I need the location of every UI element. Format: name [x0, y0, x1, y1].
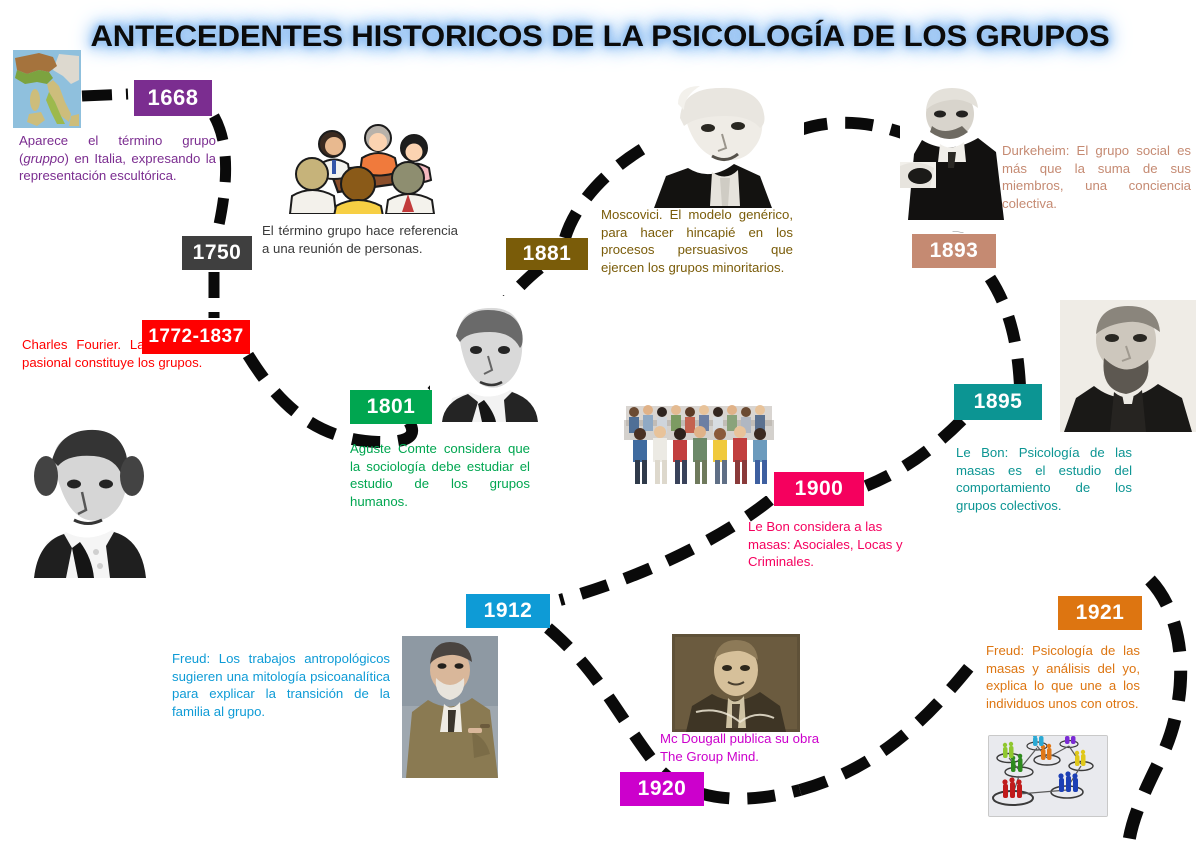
comte-portrait-svg [430, 296, 548, 422]
entry-text-1912: Freud: Los trabajos antropológicos sugie… [172, 650, 390, 720]
entry-text-1668: Aparece el término grupo (gruppo) en Ita… [19, 132, 216, 185]
mcdougall-photo-svg [672, 634, 800, 732]
year-chip-1895[interactable]: 1895 [954, 384, 1042, 420]
crowd-photo-svg [620, 390, 778, 496]
meeting-illustration-svg [288, 112, 440, 214]
italy-map-image [13, 50, 81, 128]
group-network-diagram [988, 735, 1108, 817]
year-chip-1668[interactable]: 1668 [134, 80, 212, 116]
infographic-canvas: ANTECEDENTES HISTORICOS DE LA PSICOLOGÍA… [0, 0, 1200, 849]
crowd-photo [620, 390, 778, 496]
gustave-le-bon-portrait [1060, 300, 1196, 432]
entry-text-1801: Aguste Comte considera que la sociología… [350, 440, 530, 510]
year-chip-1912[interactable]: 1912 [466, 594, 550, 628]
timeline-dashed-path [0, 0, 1200, 849]
entry-text-1921: Freud: Psicología de las masas y análisi… [986, 642, 1140, 712]
lebon-portrait-svg [1060, 300, 1196, 432]
sigmund-freud-photo [402, 636, 498, 778]
people-around-table-illustration [288, 112, 440, 214]
year-chip-1900[interactable]: 1900 [774, 472, 864, 506]
italic-term: gruppo [23, 151, 64, 166]
emile-durkheim-photo [900, 88, 1010, 220]
entry-text-1668-a: Aparece el término grupo (gruppo) en Ita… [19, 133, 216, 183]
auguste-comte-portrait [430, 296, 548, 422]
fourier-portrait-svg [22, 420, 156, 578]
entry-text-1772-1837: Charles Fourier. La atracción pasional c… [22, 336, 207, 371]
year-chip-1920[interactable]: 1920 [620, 772, 704, 806]
entry-text-1881: Moscovici. El modelo genérico, para hace… [601, 206, 793, 276]
moscovici-photo-svg [650, 84, 804, 208]
year-chip-1893[interactable]: 1893 [912, 234, 996, 268]
entry-text-1895: Le Bon: Psicología de las masas es el es… [956, 444, 1132, 514]
year-chip-1921[interactable]: 1921 [1058, 596, 1142, 630]
william-mcdougall-photo [672, 634, 800, 732]
entry-text-1900: Le Bon considera a las masas: Asociales,… [748, 518, 923, 571]
durkheim-photo-svg [900, 88, 1010, 220]
italy-map-svg [13, 50, 81, 128]
year-chip-1750[interactable]: 1750 [182, 236, 252, 270]
charles-fourier-portrait [22, 420, 156, 578]
year-chip-1881[interactable]: 1881 [506, 238, 588, 270]
entry-text-1893: Durkeheim: El grupo social es más que la… [1002, 142, 1191, 212]
network-diagram-svg [989, 736, 1107, 816]
entry-text-1750: El término grupo hace referencia a una r… [262, 222, 458, 257]
serge-moscovici-photo [650, 84, 804, 208]
entry-text-1920: Mc Dougall publica su obra The Group Min… [660, 730, 836, 765]
freud-photo-svg [402, 636, 498, 778]
year-chip-1801[interactable]: 1801 [350, 390, 432, 424]
